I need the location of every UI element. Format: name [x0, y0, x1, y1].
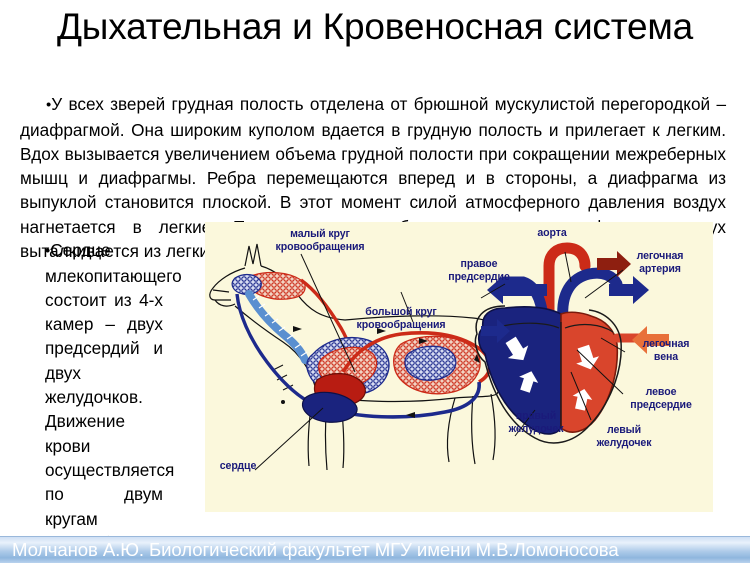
label-aorta: аорта [525, 227, 579, 240]
label-pravoe-predserdie: правое предсердие [433, 258, 525, 283]
label-legochnaya-vena: легочная вена [629, 338, 703, 363]
footer-attribution: Молчанов А.Ю. Биологический факультет МГ… [12, 538, 742, 562]
label-levyy-zheludochek: левый желудочек [583, 424, 665, 449]
label-bolshoy-krug: большой круг кровообращения [345, 306, 457, 331]
label-serdce: сердце [209, 460, 267, 473]
label-maly-krug: малый круг кровообращения [261, 228, 379, 253]
label-legochnaya-arteriya: легочная артерия [623, 250, 697, 275]
label-pravyy-zheludochek: правый желудочек [495, 410, 577, 435]
page-title: Дыхательная и Кровеносная система [0, 4, 750, 49]
paragraph-2-text: Сердце млекопитающего состоит из 4-х кам… [45, 240, 185, 553]
circulatory-system-diagram: малый круг кровообращения аорта легочная… [205, 222, 713, 512]
label-levoe-predserdie: левое предсердие [617, 386, 705, 411]
body-paragraph-2: •Сердце млекопитающего состоит из 4-х ка… [45, 238, 163, 555]
